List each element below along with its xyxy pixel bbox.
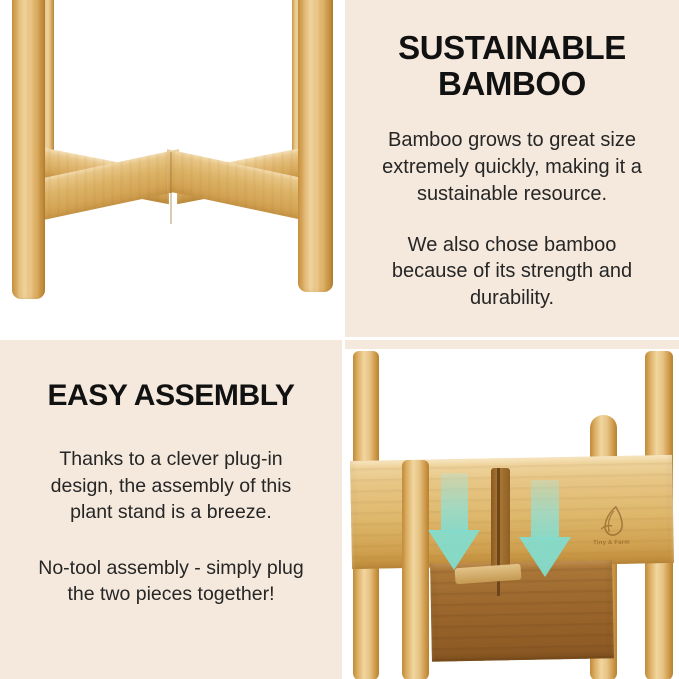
bamboo-leg-front-left <box>12 0 45 299</box>
easy-assembly-panel: EASY ASSEMBLY Thanks to a clever plug-in… <box>0 340 345 679</box>
product-photo-stage <box>0 0 342 337</box>
assembly-photo-top-band <box>345 340 679 349</box>
press-down-arrow-right-shaft <box>531 480 559 540</box>
cross-brace-center-seam <box>170 152 172 224</box>
press-down-arrow-left-icon <box>428 530 480 570</box>
bamboo-leg-mid-left <box>402 460 429 679</box>
product-infographic: SUSTAINABLE BAMBOO Bamboo grows to great… <box>0 0 679 679</box>
brand-logo: Tiny & Farm <box>582 488 639 547</box>
sustainable-paragraph-1: Bamboo grows to great size extremely qui… <box>371 127 653 207</box>
sustainable-bamboo-panel: SUSTAINABLE BAMBOO Bamboo grows to great… <box>345 0 679 340</box>
plug-in-tenon <box>491 468 510 578</box>
assembly-photo-panel: Tiny & Farm <box>345 340 679 679</box>
sustainable-paragraph-2: We also chose bamboo because of its stre… <box>371 232 653 312</box>
assembly-paragraph-2: No-tool assembly - simply plug the two p… <box>31 555 311 607</box>
assembly-headline: EASY ASSEMBLY <box>47 380 294 412</box>
brand-logo-text: Tiny & Farm <box>593 540 630 547</box>
press-down-arrow-left-shaft <box>441 473 468 533</box>
assembly-paragraph-1: Thanks to a clever plug-in design, the a… <box>31 446 311 524</box>
bamboo-leg-front-right <box>298 0 333 292</box>
sustainable-headline: SUSTAINABLE BAMBOO <box>377 30 647 101</box>
product-photo-panel <box>0 0 345 340</box>
brand-leaf-icon <box>596 505 627 540</box>
press-down-arrow-right-icon <box>519 537 571 577</box>
